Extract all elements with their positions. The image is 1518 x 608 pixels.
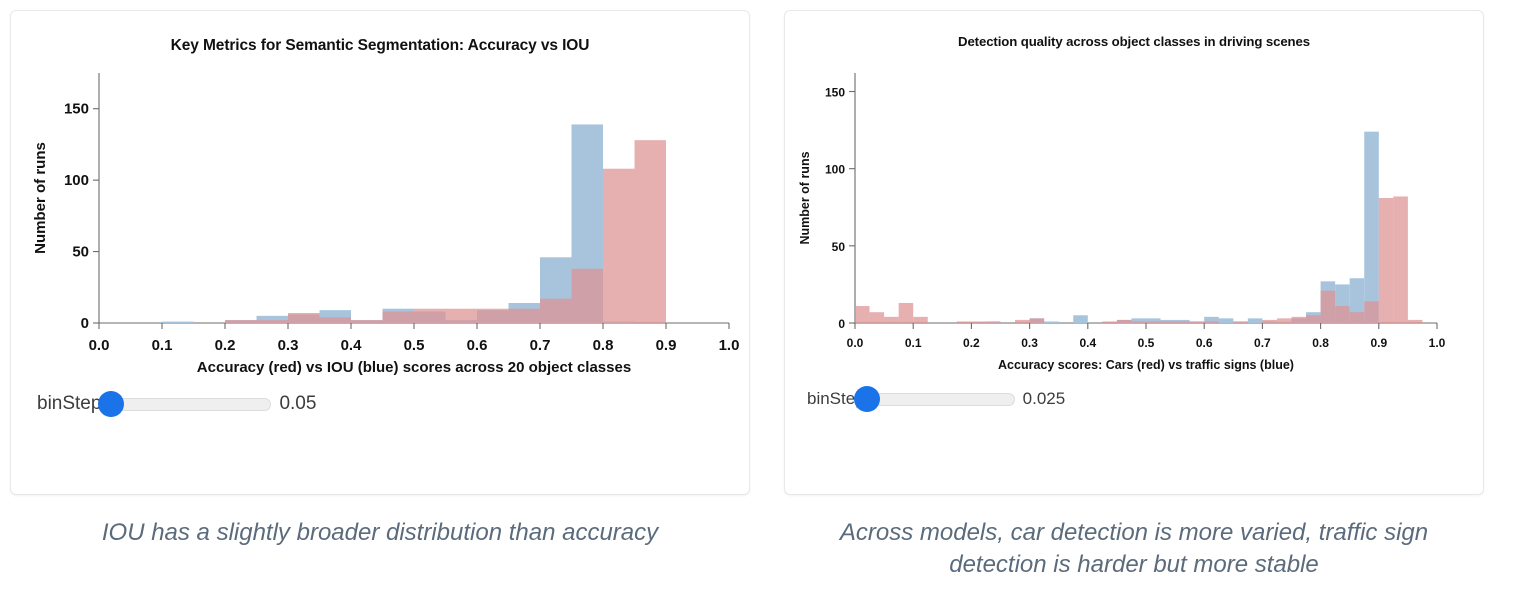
svg-text:50: 50 [832, 240, 846, 254]
plot-wrap-right: 0501001500.00.10.20.30.40.50.60.70.80.91… [785, 49, 1483, 381]
bar-series-blue [986, 132, 1379, 323]
chart-card-right: Detection quality across object classes … [784, 10, 1484, 495]
svg-text:0: 0 [838, 317, 845, 331]
svg-text:100: 100 [64, 172, 89, 189]
slider-track-left[interactable] [99, 398, 271, 411]
panel-right: Detection quality across object classes … [784, 10, 1484, 582]
caption-right: Across models, car detection is more var… [789, 517, 1479, 582]
svg-text:0.4: 0.4 [1079, 336, 1096, 350]
chart-title-left: Key Metrics for Semantic Segmentation: A… [11, 15, 749, 55]
svg-text:0.4: 0.4 [341, 337, 363, 354]
y-axis-label: Number of runs [32, 142, 49, 254]
x-axis-label: Accuracy (red) vs IOU (blue) scores acro… [197, 359, 631, 376]
svg-text:100: 100 [825, 163, 845, 177]
plot-wrap-left: 0501001500.00.10.20.30.40.50.60.70.80.91… [11, 55, 749, 385]
svg-text:0.7: 0.7 [530, 337, 551, 354]
svg-text:150: 150 [64, 101, 89, 118]
slider-knob-right[interactable] [854, 386, 880, 412]
svg-text:0: 0 [81, 315, 89, 332]
svg-text:0.6: 0.6 [467, 337, 488, 354]
svg-text:0.8: 0.8 [1312, 336, 1329, 350]
chart-title-right: Detection quality across object classes … [785, 15, 1483, 49]
bar-series-blue [162, 124, 635, 323]
panel-left: Key Metrics for Semantic Segmentation: A… [10, 10, 750, 549]
svg-text:1.0: 1.0 [719, 337, 740, 354]
svg-text:50: 50 [72, 244, 89, 261]
svg-text:0.9: 0.9 [1370, 336, 1387, 350]
svg-text:150: 150 [825, 86, 845, 100]
svg-text:0.5: 0.5 [404, 337, 425, 354]
svg-text:0.8: 0.8 [593, 337, 614, 354]
slider-value-right: 0.025 [1023, 389, 1066, 409]
slider-label-binstep-left: binStep [37, 393, 101, 415]
histogram-right: 0501001500.00.10.20.30.40.50.60.70.80.91… [785, 49, 1485, 381]
histogram-left: 0501001500.00.10.20.30.40.50.60.70.80.91… [11, 55, 751, 385]
slider-row-right: binStep 0.025 [785, 389, 1483, 409]
svg-text:0.9: 0.9 [656, 337, 677, 354]
dashboard-root: Key Metrics for Semantic Segmentation: A… [0, 0, 1518, 608]
svg-text:0.2: 0.2 [215, 337, 236, 354]
svg-text:0.0: 0.0 [89, 337, 110, 354]
slider-knob-left[interactable] [98, 391, 124, 417]
chart-card-left: Key Metrics for Semantic Segmentation: A… [10, 10, 750, 495]
y-axis-label: Number of runs [798, 151, 812, 244]
x-axis-label: Accuracy scores: Cars (red) vs traffic s… [998, 358, 1294, 372]
slider-value-left: 0.05 [279, 393, 316, 415]
svg-text:0.7: 0.7 [1254, 336, 1271, 350]
slider-row-left: binStep 0.05 [11, 393, 749, 415]
slider-track-right[interactable] [863, 393, 1015, 406]
caption-left: IOU has a slightly broader distribution … [15, 517, 745, 549]
svg-text:0.1: 0.1 [905, 336, 922, 350]
svg-text:0.0: 0.0 [847, 336, 864, 350]
svg-text:0.6: 0.6 [1196, 336, 1213, 350]
svg-text:0.3: 0.3 [1021, 336, 1038, 350]
svg-text:0.1: 0.1 [152, 337, 173, 354]
svg-text:0.5: 0.5 [1138, 336, 1155, 350]
svg-text:0.2: 0.2 [963, 336, 980, 350]
svg-text:0.3: 0.3 [278, 337, 299, 354]
svg-text:1.0: 1.0 [1429, 336, 1446, 350]
